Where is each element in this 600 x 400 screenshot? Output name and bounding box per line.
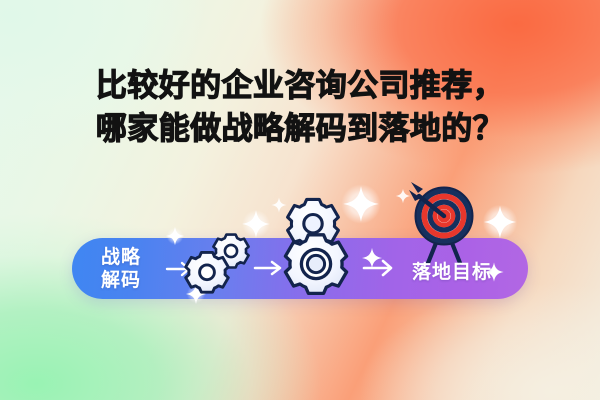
page-title: 比较好的企业咨询公司推荐， 哪家能做战略解码到落地的？ — [0, 64, 600, 150]
poster-canvas: 比较好的企业咨询公司推荐， 哪家能做战略解码到落地的？ — [0, 0, 600, 400]
flow-end-label: 落地目标 — [392, 261, 512, 284]
headline-line-2: 哪家能做战略解码到落地的？ — [0, 107, 600, 150]
headline-line-1: 比较好的企业咨询公司推荐， — [0, 64, 600, 107]
flow-start-label-line-2: 解码 — [78, 269, 164, 292]
flow-start-label: 战略 解码 — [78, 246, 164, 292]
flow-start-label-line-1: 战略 — [78, 246, 164, 269]
background-cream-blob — [0, 0, 600, 400]
